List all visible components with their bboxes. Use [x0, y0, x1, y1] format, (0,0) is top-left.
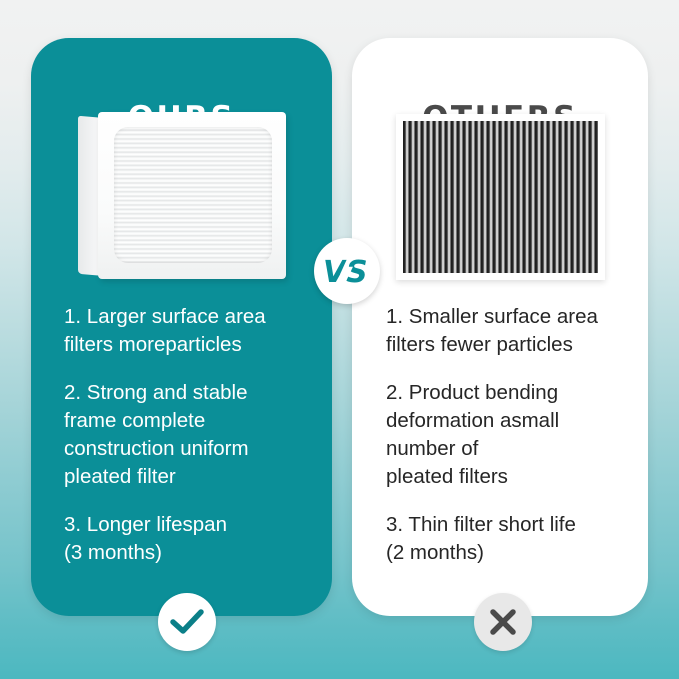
others-filter-pleats — [403, 121, 598, 273]
list-item: 2. Strong and stable frame complete cons… — [64, 379, 314, 491]
comparison-infographic: OURS 1. Larger surface area filters more… — [0, 0, 679, 679]
others-feature-list: 1. Smaller surface area filters fewer pa… — [386, 303, 638, 567]
x-icon — [488, 607, 518, 637]
list-item: 2. Product bending deformation asmall nu… — [386, 379, 638, 491]
vs-icon: V S — [321, 251, 373, 291]
others-verdict-badge — [474, 593, 532, 651]
ours-filter-frame — [98, 112, 286, 279]
others-product-image — [396, 114, 605, 280]
ours-feature-list: 1. Larger surface area filters moreparti… — [64, 303, 314, 567]
ours-filter-pleats — [114, 127, 272, 263]
list-item: 1. Larger surface area filters moreparti… — [64, 303, 314, 359]
vs-badge: V S — [314, 238, 380, 304]
check-icon — [170, 608, 204, 636]
list-item: 1. Smaller surface area filters fewer pa… — [386, 303, 638, 359]
list-item: 3. Thin filter short life (2 months) — [386, 511, 638, 567]
ours-verdict-badge — [158, 593, 216, 651]
list-item: 3. Longer lifespan (3 months) — [64, 511, 314, 567]
ours-product-image — [78, 112, 286, 279]
